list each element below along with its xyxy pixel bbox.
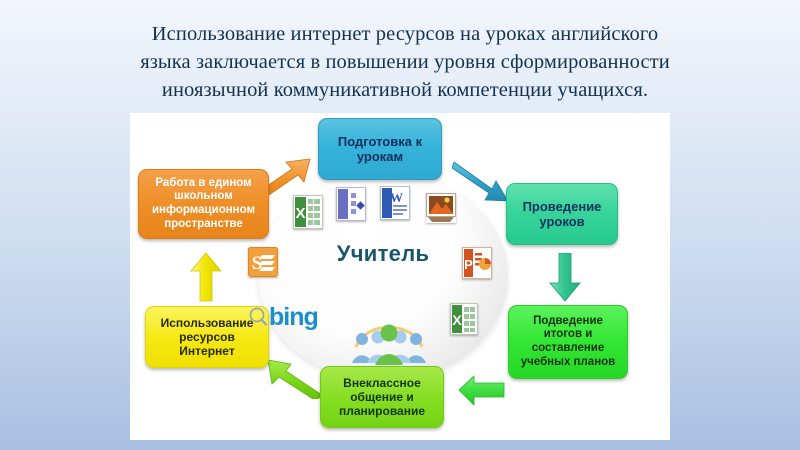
bing-wordmark: bing <box>269 305 318 330</box>
people-group-icon[interactable] <box>348 313 430 374</box>
node-school-space-label: Работа в едином школьном информационном … <box>145 177 262 231</box>
arrow-lessons-to-results <box>548 253 582 308</box>
node-internet-resources-label: Использование ресурсов Интернет <box>152 316 262 358</box>
picture-icon[interactable] <box>426 193 456 223</box>
arrow-results-to-extra <box>458 375 506 414</box>
node-extracurricular-label: Внеклассное общение и планирование <box>327 376 437 418</box>
node-results[interactable]: Подведение итогов и составление учебных … <box>508 305 628 379</box>
slide-canvas: Использование интернет ресурсов на урока… <box>0 0 800 450</box>
node-preparation[interactable]: Подготовка к урокам <box>318 118 442 180</box>
svg-text:W: W <box>390 190 403 205</box>
word-icon[interactable]: W <box>380 186 410 220</box>
title-line-3: иноязычной коммуникативной компетенции у… <box>60 76 750 104</box>
bing-logo[interactable]: bing <box>248 305 318 330</box>
excel-icon[interactable]: X <box>450 303 478 335</box>
title-line-2: языка заключается в повышении уровня сфо… <box>60 48 750 76</box>
node-results-label: Подведение итогов и составление учебных … <box>515 315 621 369</box>
cycle-diagram: Подготовка к урокам Работа в едином школ… <box>130 113 670 440</box>
svg-text:X: X <box>452 312 462 328</box>
svg-text:X: X <box>295 205 305 222</box>
arrow-prep-to-lessons <box>452 159 514 208</box>
search-icon <box>248 306 268 330</box>
excel-icon[interactable]: X <box>293 195 323 229</box>
node-lessons[interactable]: Проведение уроков <box>506 183 618 245</box>
powerpoint-icon[interactable]: P <box>462 247 492 279</box>
sway-icon[interactable]: S <box>248 247 278 277</box>
node-extracurricular[interactable]: Внеклассное общение и планирование <box>320 366 444 428</box>
node-school-space[interactable]: Работа в едином школьном информационном … <box>138 169 269 239</box>
node-lessons-label: Проведение уроков <box>513 199 611 230</box>
node-preparation-label: Подготовка к урокам <box>325 134 435 165</box>
publisher-icon[interactable] <box>336 187 366 221</box>
arrow-internet-to-space <box>189 251 223 308</box>
arrow-extra-to-internet <box>266 357 324 404</box>
svg-text:P: P <box>464 257 473 272</box>
title-line-1: Использование интернет ресурсов на урока… <box>60 20 750 48</box>
page-title: Использование интернет ресурсов на урока… <box>60 20 750 104</box>
